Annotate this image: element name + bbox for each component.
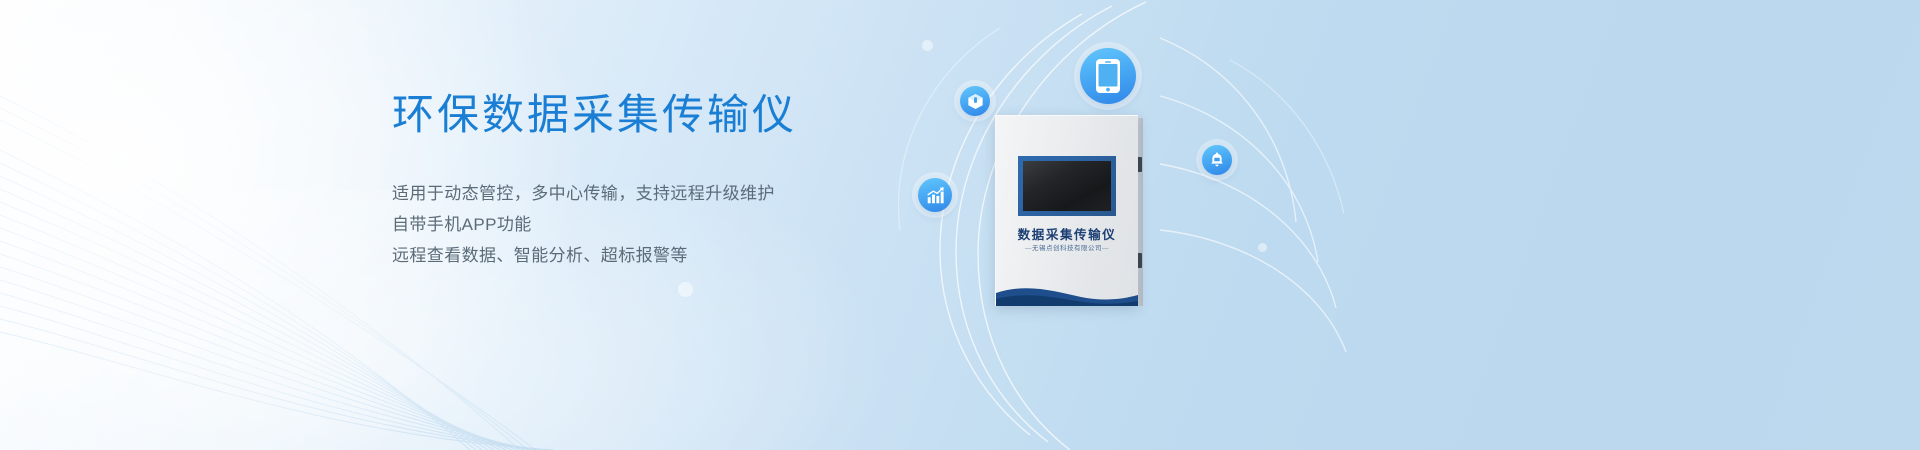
- device-company-label: —无锡点创科技有限公司—: [996, 242, 1138, 252]
- alarm-bell-icon: [1202, 145, 1232, 175]
- product-device-image: 数据采集传输仪 —无锡点创科技有限公司—: [995, 115, 1145, 307]
- page-title: 环保数据采集传输仪: [392, 90, 1012, 140]
- device-footer-graphic: [996, 280, 1138, 306]
- bar-chart-trend-icon: [918, 178, 952, 212]
- decorative-dot: [1258, 243, 1267, 252]
- product-hero-banner: 环保数据采集传输仪 适用于动态管控，多中心传输，支持远程升级维护 自带手机APP…: [0, 0, 1920, 450]
- device-front-panel: 数据采集传输仪 —无锡点创科技有限公司—: [995, 115, 1138, 306]
- device-screen-frame: [1018, 156, 1116, 216]
- device-screen: [1023, 161, 1111, 211]
- decorative-dot: [922, 40, 933, 51]
- decorative-dot: [678, 282, 693, 297]
- device-brand-label: 数据采集传输仪: [996, 224, 1138, 243]
- subtitle-line-2: 自带手机APP功能: [392, 209, 1012, 240]
- subtitle-line-3: 远程查看数据、智能分析、超标报警等: [392, 240, 1012, 271]
- mobile-phone-icon: [1080, 48, 1136, 104]
- hero-text-block: 环保数据采集传输仪 适用于动态管控，多中心传输，支持远程升级维护 自带手机APP…: [392, 90, 1012, 271]
- cube-box-icon: [960, 86, 990, 116]
